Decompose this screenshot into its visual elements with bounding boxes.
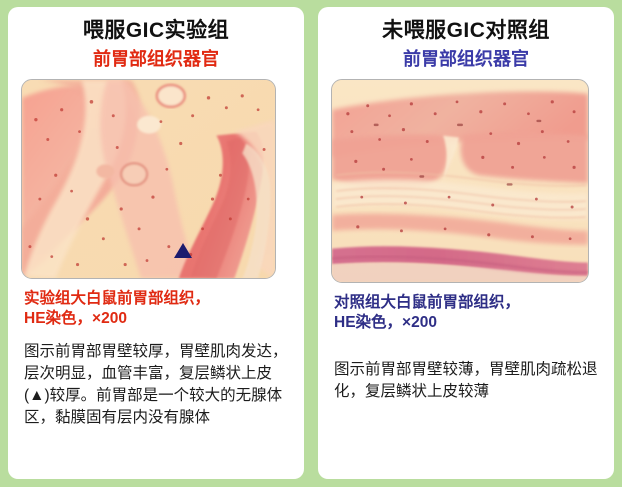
panel-subtitle-left: 前胃部组织器官 (8, 47, 304, 71)
histology-svg-control (332, 80, 588, 282)
panel-title-right: 未喂服GIC对照组 (318, 17, 614, 44)
triangle-marker (174, 243, 192, 258)
comparison-figure: 喂服GIC实验组 前胃部组织器官 (0, 0, 622, 487)
panel-control: 未喂服GIC对照组 前胃部组织器官 (318, 7, 614, 479)
description-text-left: 图示前胃部胃壁较厚，胃壁肌肉发达，层次明显，血管丰富，复层鳞状上皮(▲)较厚。前… (24, 341, 288, 429)
panel-subtitle-right: 前胃部组织器官 (318, 47, 614, 71)
image-caption-left: 实验组大白鼠前胃部组织， HE染色，×200 (24, 289, 304, 329)
description-text-right: 图示前胃部胃壁较薄，胃壁肌肉疏松退化，复层鳞状上皮较薄 (334, 359, 598, 403)
panel-header-left: 喂服GIC实验组 前胃部组织器官 (8, 7, 304, 72)
histology-svg-experimental (22, 80, 275, 278)
histology-image-control (331, 79, 589, 283)
panel-experimental: 喂服GIC实验组 前胃部组织器官 (8, 7, 304, 479)
image-caption-right: 对照组大白鼠前胃部组织， HE染色，×200 (334, 293, 614, 333)
panel-title-left: 喂服GIC实验组 (8, 17, 304, 44)
panel-header-right: 未喂服GIC对照组 前胃部组织器官 (318, 7, 614, 72)
histology-image-experimental (21, 79, 276, 279)
